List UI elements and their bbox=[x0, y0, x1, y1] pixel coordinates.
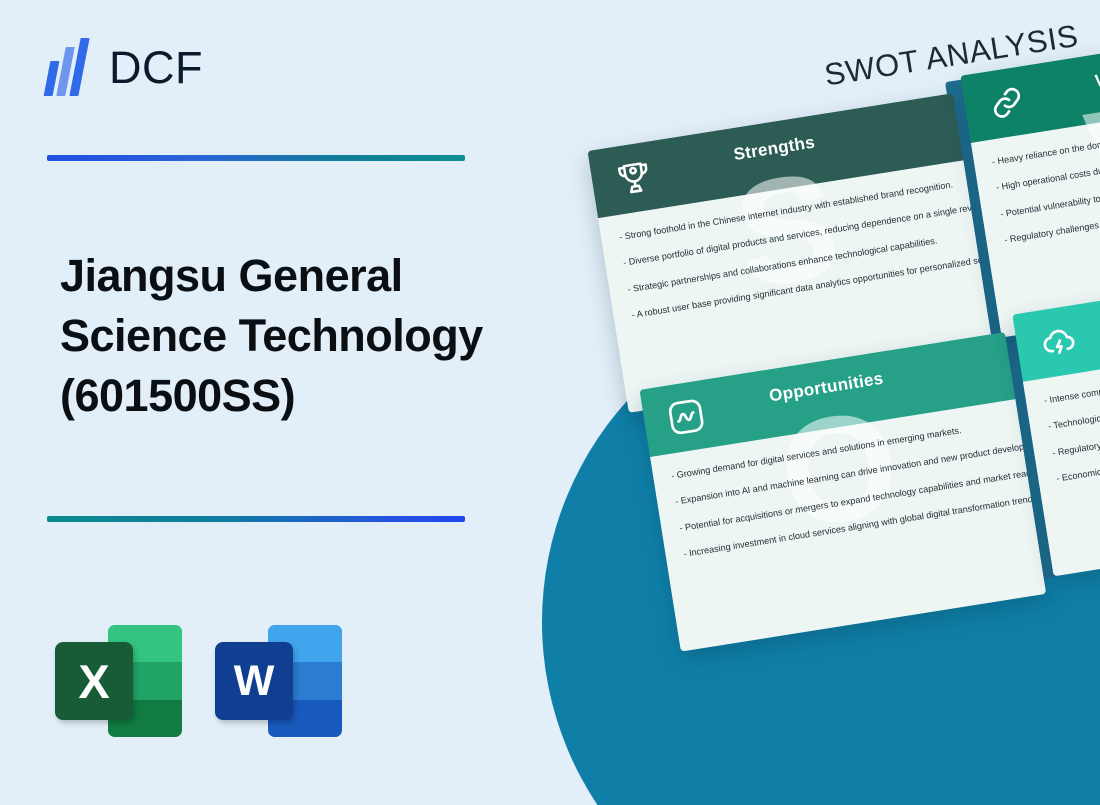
swot-card-opportunities[interactable]: Opportunities O Growing demand for digit… bbox=[639, 332, 1046, 652]
divider-top bbox=[47, 155, 465, 161]
card-header: Weaknesses bbox=[960, 18, 1100, 143]
excel-letter: X bbox=[55, 642, 133, 720]
swot-card-grid: Strengths S Strong foothold in the Chine… bbox=[470, 0, 1100, 805]
download-icons: X W bbox=[50, 620, 342, 742]
excel-download-icon[interactable]: X bbox=[50, 620, 182, 742]
page-title: Jiangsu General Science Technology (6015… bbox=[60, 246, 490, 426]
word-download-icon[interactable]: W bbox=[210, 620, 342, 742]
swot-graphic: SWOT ANALYSIS bbox=[470, 0, 1100, 805]
excel-tile: X bbox=[55, 642, 133, 720]
brand-logo[interactable]: DCF bbox=[47, 38, 203, 96]
divider-bottom bbox=[47, 516, 465, 522]
brand-name: DCF bbox=[109, 45, 203, 90]
dcf-bars-logo-icon bbox=[47, 38, 95, 96]
word-letter: W bbox=[215, 642, 293, 720]
slide-canvas: SWOT ANALYSIS bbox=[0, 0, 1100, 805]
left-panel: DCF Jiangsu General Science Technology (… bbox=[0, 0, 520, 805]
word-tile: W bbox=[215, 642, 293, 720]
